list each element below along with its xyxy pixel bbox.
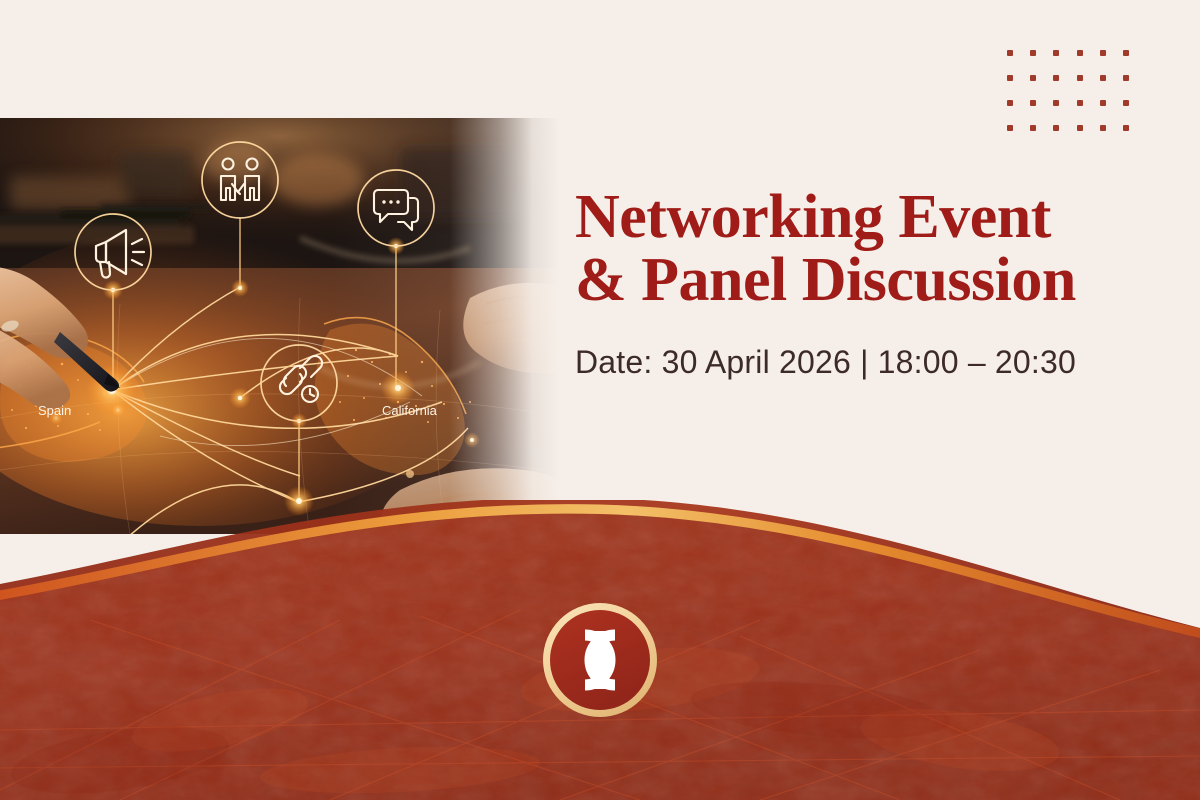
dot-cell (1021, 115, 1044, 140)
event-date: Date: 30 April 2026 | 18:00 – 20:30 (575, 344, 1175, 381)
event-poster: Spain California Networking Event & Pane… (0, 0, 1200, 800)
dot-cell (1045, 65, 1068, 90)
dot-icon (1077, 125, 1083, 131)
dot-cell (1115, 90, 1138, 115)
dot-icon (1007, 75, 1013, 81)
dot-cell (998, 90, 1021, 115)
event-text-block: Networking Event & Panel Discussion Date… (575, 186, 1175, 381)
dot-icon (1030, 50, 1036, 56)
dot-icon (1100, 75, 1106, 81)
dot-cell (1115, 65, 1138, 90)
dot-icon (1053, 75, 1059, 81)
dot-icon (1077, 100, 1083, 106)
dot-icon (1007, 50, 1013, 56)
dot-cell (1068, 40, 1091, 65)
dot-icon (1053, 50, 1059, 56)
dot-cell (1115, 40, 1138, 65)
dot-icon (1030, 125, 1036, 131)
cs-monogram-logo (541, 601, 659, 719)
dot-cell (1091, 115, 1114, 140)
dot-cell (1068, 115, 1091, 140)
dot-cell (1045, 40, 1068, 65)
page-title: Networking Event & Panel Discussion (575, 186, 1175, 312)
dot-icon (1053, 125, 1059, 131)
dot-icon (1030, 75, 1036, 81)
dot-cell (1021, 90, 1044, 115)
dot-cell (1045, 90, 1068, 115)
dot-icon (1053, 100, 1059, 106)
dot-icon (1007, 100, 1013, 106)
dot-cell (1091, 90, 1114, 115)
dot-cell (1068, 65, 1091, 90)
dot-icon (1077, 75, 1083, 81)
dot-cell (998, 40, 1021, 65)
dot-icon (1077, 50, 1083, 56)
dot-cell (1091, 40, 1114, 65)
dot-icon (1123, 125, 1129, 131)
dot-icon (1100, 100, 1106, 106)
dot-cell (1068, 90, 1091, 115)
dot-icon (1100, 125, 1106, 131)
dot-cell (1091, 65, 1114, 90)
dot-icon (1007, 125, 1013, 131)
dot-cell (1021, 65, 1044, 90)
dot-cell (998, 115, 1021, 140)
dot-icon (1123, 100, 1129, 106)
dot-grid (998, 40, 1138, 140)
dot-cell (1021, 40, 1044, 65)
dot-icon (1123, 75, 1129, 81)
dot-icon (1100, 50, 1106, 56)
dot-icon (1123, 50, 1129, 56)
map-label-spain: Spain (38, 403, 71, 418)
dot-cell (998, 65, 1021, 90)
dot-cell (1045, 115, 1068, 140)
dot-icon (1030, 100, 1036, 106)
networking-world-map-image: Spain California (0, 118, 560, 534)
dot-cell (1115, 115, 1138, 140)
